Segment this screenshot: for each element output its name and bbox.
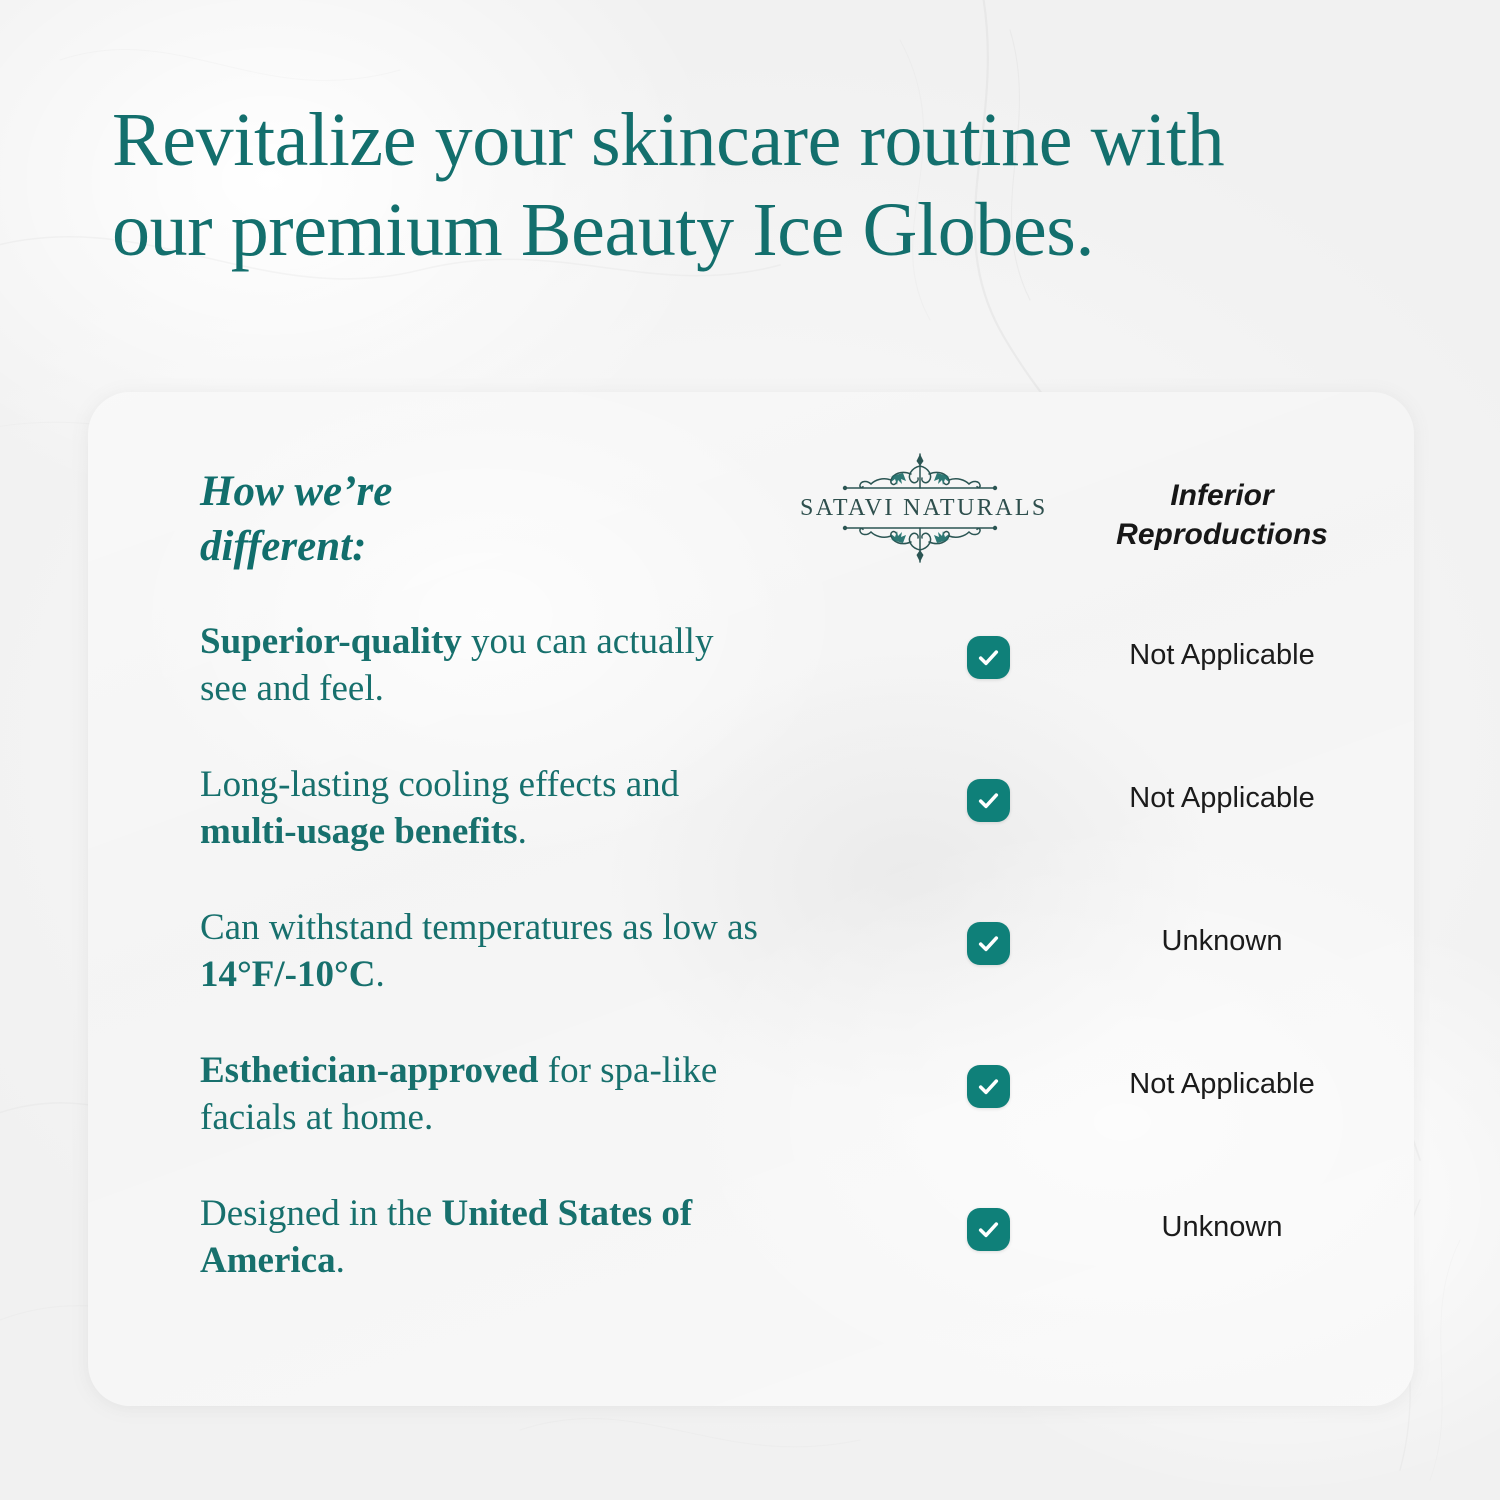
competitor-value-cell: Unknown — [1074, 1210, 1370, 1245]
page-headline: Revitalize your skincare routine with ou… — [112, 96, 1412, 275]
brand-value-cell — [878, 1065, 1098, 1108]
brand-value-cell — [878, 636, 1098, 679]
checkmark-icon — [967, 779, 1010, 822]
flourish-top-icon — [835, 450, 1005, 494]
comparison-heading-line-1: How we’re — [200, 464, 620, 519]
comparison-card: How we’re different: — [88, 392, 1414, 1406]
competitor-column-header: Inferior Reproductions — [1074, 476, 1370, 554]
feature-text: Esthetician-approved for spa-like facial… — [200, 1047, 760, 1142]
competitor-value-cell: Not Applicable — [1074, 781, 1370, 816]
comparison-heading: How we’re different: — [200, 464, 620, 574]
table-row: Long-lasting cooling effects and multi-u… — [88, 761, 1414, 904]
flourish-bottom-icon — [835, 522, 1005, 566]
checkmark-icon — [967, 1208, 1010, 1251]
competitor-value-cell: Unknown — [1074, 924, 1370, 959]
table-row: Can withstand temperatures as low as 14°… — [88, 904, 1414, 1047]
comparison-rows: Superior-quality you can actually see an… — [88, 618, 1414, 1333]
checkmark-icon — [967, 922, 1010, 965]
competitor-header-line-1: Inferior — [1074, 476, 1370, 515]
table-row: Designed in the United States of America… — [88, 1190, 1414, 1333]
table-row: Superior-quality you can actually see an… — [88, 618, 1414, 761]
competitor-header-line-2: Reproductions — [1074, 515, 1370, 554]
feature-text: Superior-quality you can actually see an… — [200, 618, 760, 713]
table-row: Esthetician-approved for spa-like facial… — [88, 1047, 1414, 1190]
competitor-value-cell: Not Applicable — [1074, 1067, 1370, 1102]
headline-line-1: Revitalize your skincare routine with — [112, 96, 1412, 186]
brand-logo: SATAVI NATURALS — [800, 450, 1040, 566]
checkmark-icon — [967, 636, 1010, 679]
brand-value-cell — [878, 922, 1098, 965]
infographic-page: Revitalize your skincare routine with ou… — [0, 0, 1500, 1500]
brand-value-cell — [878, 1208, 1098, 1251]
feature-text: Long-lasting cooling effects and multi-u… — [200, 761, 760, 856]
competitor-value-cell: Not Applicable — [1074, 638, 1370, 673]
headline-line-2: our premium Beauty Ice Globes. — [112, 186, 1412, 276]
comparison-heading-line-2: different: — [200, 519, 620, 574]
feature-text: Designed in the United States of America… — [200, 1190, 760, 1285]
checkmark-icon — [967, 1065, 1010, 1108]
brand-logo-text: SATAVI NATURALS — [800, 495, 1040, 522]
feature-text: Can withstand temperatures as low as 14°… — [200, 904, 760, 999]
brand-value-cell — [878, 779, 1098, 822]
